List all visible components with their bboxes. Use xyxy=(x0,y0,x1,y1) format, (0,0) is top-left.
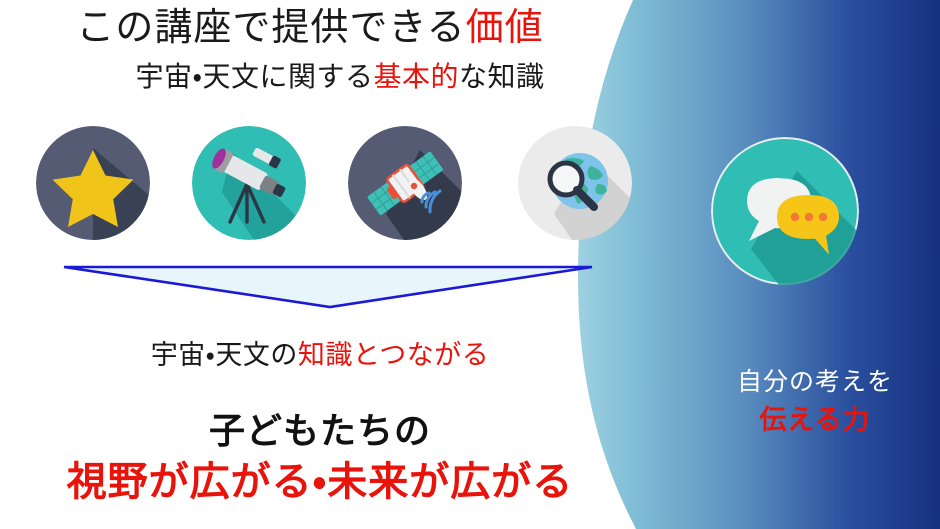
page-subtitle-after: な知識 xyxy=(459,62,545,93)
mid-text: 宇宙・天文の知識とつながる xyxy=(0,333,640,372)
globe-search-icon xyxy=(518,126,632,240)
right-panel-line1: 自分の考えを xyxy=(690,362,940,398)
telescope-icon xyxy=(192,126,306,240)
down-chevron-banner xyxy=(62,262,594,312)
right-panel-line2: 伝える力 xyxy=(690,398,940,437)
slide-canvas: この講座で提供できる価値 宇宙・天文に関する基本的な知識 xyxy=(0,0,940,529)
headline-line1: 子どもたちの xyxy=(0,402,640,454)
page-subtitle: 宇宙・天文に関する基本的な知識 xyxy=(0,60,680,95)
speech-bubbles-icon xyxy=(711,137,859,285)
icon-row xyxy=(0,126,640,242)
star-icon xyxy=(36,126,150,240)
satellite-icon xyxy=(348,126,462,240)
page-title: この講座で提供できる価値 xyxy=(0,6,620,51)
page-title-plain: この講座で提供できる xyxy=(76,7,465,49)
mid-text-accent: 知識とつながる xyxy=(298,340,489,370)
page-title-accent: 価値 xyxy=(466,7,544,49)
headline-line2: 視野が広がる・未来が広がる xyxy=(0,449,640,507)
page-subtitle-accent: 基本的 xyxy=(374,62,460,93)
page-subtitle-before: 宇宙・天文に関する xyxy=(135,62,373,93)
mid-text-before: 宇宙・天文の xyxy=(151,340,298,370)
